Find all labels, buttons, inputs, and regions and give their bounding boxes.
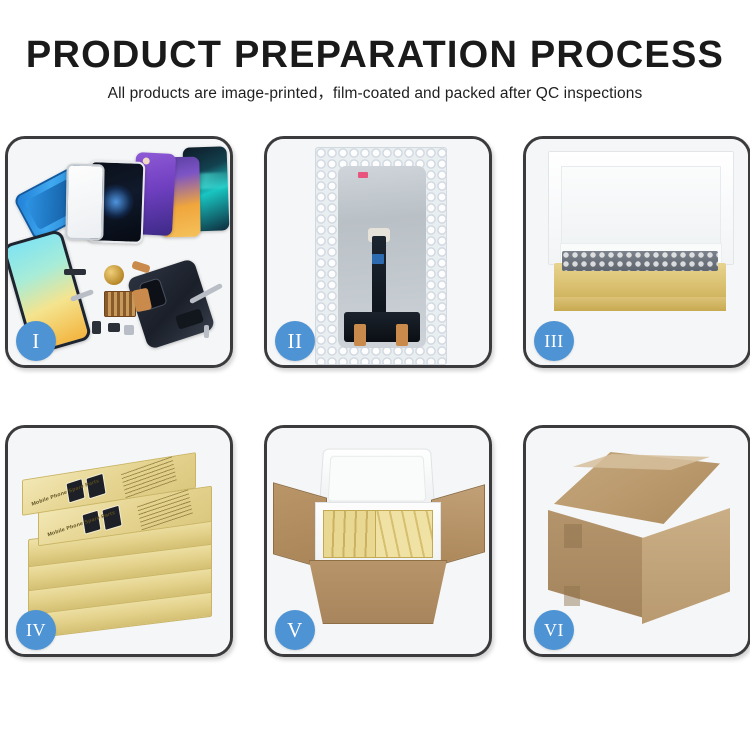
foam-lid [319, 449, 435, 510]
carton-seam-bottom [564, 586, 580, 606]
page-title: PRODUCT PREPARATION PROCESS [0, 34, 750, 76]
step-panel-1[interactable]: I [5, 136, 233, 368]
carton-seam-top [564, 524, 582, 548]
camera-module-part [92, 321, 101, 334]
bubble-wrap-bag [315, 147, 447, 365]
speaker-part [64, 269, 86, 275]
step-panel-4[interactable]: Mobile Phone Spare Parts Mobile Phone Sp… [5, 425, 233, 657]
carton-left-face [548, 510, 644, 618]
step-panel-3[interactable]: III [523, 136, 750, 368]
flex-cable-part-a [131, 260, 151, 273]
step-panel-5[interactable]: V [264, 425, 492, 657]
step-badge-1: I [16, 321, 56, 361]
sim-tray-part [124, 325, 134, 335]
steps-grid: I II [5, 136, 749, 657]
step-badge-3: III [534, 321, 574, 361]
step-panel-2[interactable]: II [264, 136, 492, 368]
driver-ic [372, 254, 384, 264]
carton-body [309, 560, 447, 624]
step-badge-2: II [275, 321, 315, 361]
step-panel-6[interactable]: VI [523, 425, 750, 657]
gold-boxes-row-b [375, 510, 433, 558]
page-subtitle: All products are image-printed，film-coat… [0, 84, 750, 104]
copper-tab-right [396, 324, 408, 346]
header: PRODUCT PREPARATION PROCESS All products… [0, 34, 750, 104]
connector-grid-part [104, 291, 136, 317]
copper-tab-left [354, 324, 366, 346]
button-part [108, 323, 120, 332]
vibration-motor-part [104, 265, 124, 285]
flex-ribbon [372, 236, 386, 318]
step-badge-5: V [275, 610, 315, 650]
step-badge-4: IV [16, 610, 56, 650]
lcd-screen-assembly [338, 166, 426, 348]
gold-box-stack: Mobile Phone Spare Parts Mobile Phone Sp… [22, 450, 220, 640]
product-preparation-infographic: PRODUCT PREPARATION PROCESS All products… [0, 0, 750, 750]
small-screws [204, 325, 209, 338]
white-front-glass [65, 164, 104, 241]
pink-label-sticker [358, 172, 368, 178]
gold-box-front-edge [554, 297, 726, 311]
step-badge-6: VI [534, 610, 574, 650]
carton-right-face [642, 508, 730, 624]
